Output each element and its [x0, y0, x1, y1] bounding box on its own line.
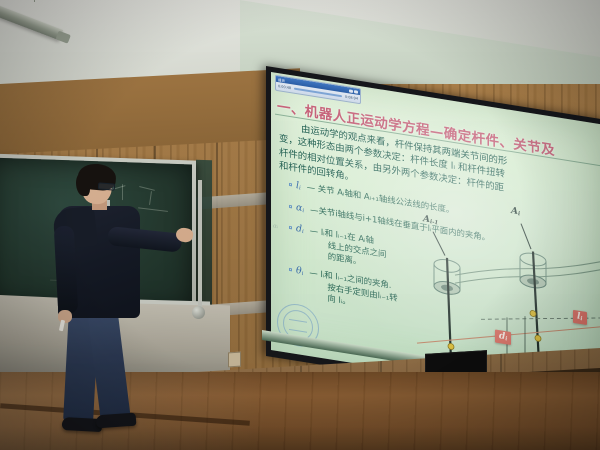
hair-side [76, 172, 90, 196]
bullet-square-icon [289, 226, 292, 229]
total-time: 0:08:94 [345, 95, 358, 101]
bullet-symbol: di [296, 223, 304, 239]
bullet-symbol: θi [296, 265, 303, 281]
ghost-symbol: αᵢ [273, 222, 278, 230]
light-hanger-wire [34, 0, 35, 2]
diagram-box-link-offset: di [495, 329, 511, 345]
shoe [96, 413, 137, 429]
diagram-box-link-length: li [573, 310, 587, 325]
legs [64, 310, 140, 430]
lecturer [36, 168, 186, 438]
minimize-icon[interactable] [349, 89, 353, 93]
classroom-photo: 播放 0:00:48 0:08:94 一、机器人正运动学方程—确定杆件、关节及 … [0, 0, 600, 450]
bullet-text: — lᵢ和 lᵢ₋₁在 Aᵢ轴 线上的交点之间 的距离。 [310, 225, 387, 272]
stand-caster [192, 306, 205, 319]
bullet-symbol: li [296, 180, 301, 195]
bullet-symbol: αi [296, 202, 304, 218]
bullet-square-icon [289, 268, 292, 271]
bullet-square-icon [289, 204, 292, 207]
glasses-icon [98, 182, 115, 190]
bullet-square-icon [289, 183, 292, 186]
board-stand-leg [198, 180, 202, 308]
elapsed-time: 0:00:48 [278, 84, 291, 90]
diagram-label-axis: Ai [511, 206, 520, 217]
wall-socket[interactable] [228, 352, 241, 368]
close-icon[interactable] [354, 90, 358, 94]
bullet-text: — lᵢ和 lᵢ₋₁之间的夹角. 按右手定则由lᵢ₋₁转 向 lᵢ。 [309, 267, 397, 316]
